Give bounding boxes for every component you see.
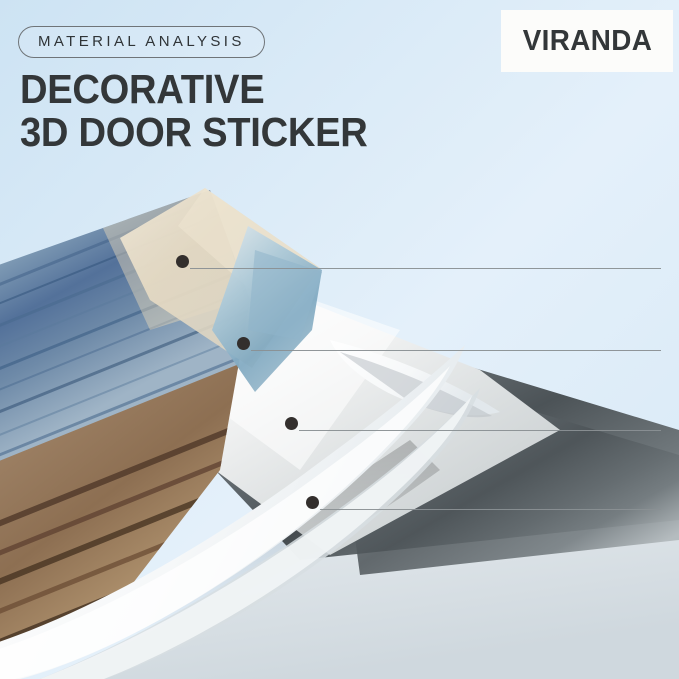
material-analysis-badge: MATERIAL ANALYSIS [18, 26, 265, 58]
callout-dot-3 [285, 417, 298, 430]
brand-logo: VIRANDA [501, 10, 673, 72]
brand-logo-text: VIRANDA [522, 25, 652, 58]
callout-dot-4 [306, 496, 319, 509]
callout-line-3 [299, 430, 661, 431]
callout-line-2 [251, 350, 661, 351]
badge-label: MATERIAL ANALYSIS [38, 33, 245, 50]
title-line-2: 3D DOOR STICKER [20, 111, 368, 154]
callout-line-1 [190, 268, 661, 269]
page-title: DECORATIVE 3D DOOR STICKER [20, 68, 368, 154]
callout-dot-1 [176, 255, 189, 268]
callout-line-4 [320, 509, 661, 510]
poster-canvas: MATERIAL ANALYSIS DECORATIVE 3D DOOR STI… [0, 0, 679, 679]
callout-dot-2 [237, 337, 250, 350]
title-line-1: DECORATIVE [20, 66, 264, 112]
